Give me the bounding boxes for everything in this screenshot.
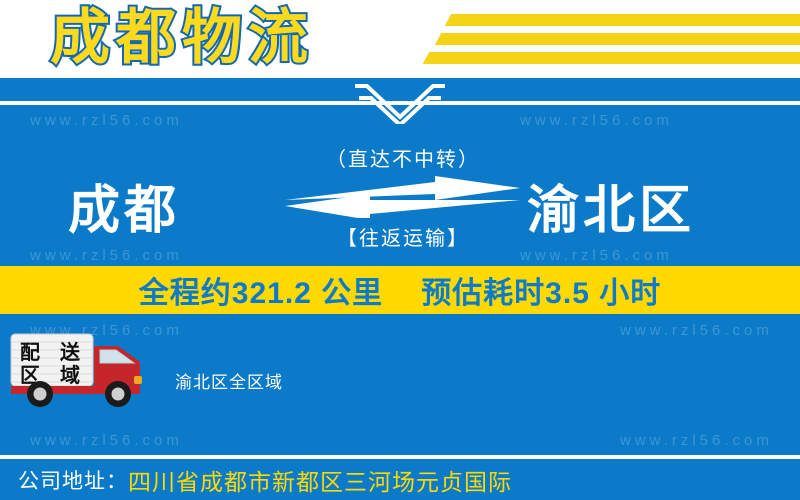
watermark: www.rzl56.com [30, 112, 183, 129]
decorative-stripes [410, 14, 800, 70]
route-note-top: （直达不中转） [293, 143, 513, 172]
route-note-bottom: 【往返运输】 [293, 222, 513, 251]
svg-text:送: 送 [60, 340, 81, 364]
delivery-truck-icon: 配 送 区 域 [8, 332, 158, 408]
chevron-down-icon [355, 84, 445, 124]
watermark: www.rzl56.com [30, 432, 183, 449]
watermark: www.rzl56.com [620, 432, 773, 449]
origin-city: 成都 [68, 168, 180, 243]
bidirectional-arrow-icon [285, 176, 520, 218]
svg-text:配: 配 [20, 341, 40, 364]
svg-text:域: 域 [60, 363, 80, 387]
distance-value: 全程约321.2 公里 [139, 268, 383, 312]
logistics-banner: www.rzl56.com www.rzl56.com www.rzl56.co… [0, 0, 800, 500]
duration-value: 预估耗时3.5 小时 [421, 268, 661, 312]
company-address: 四川省成都市新都区三河场元贞国际 [128, 463, 512, 497]
address-label: 公司地址： [18, 465, 128, 495]
info-bar: 全程约321.2 公里 预估耗时3.5 小时 [0, 266, 800, 314]
stripe-3 [423, 52, 800, 64]
footer-bar: 公司地址： 四川省成都市新都区三河场元贞国际 [0, 459, 800, 500]
destination-city: 渝北区 [527, 168, 695, 243]
watermark: www.rzl56.com [520, 112, 673, 129]
delivery-area-label: 渝北区全区域 [175, 368, 283, 393]
page-title: 成都物流 [50, 2, 314, 74]
stripe-2 [435, 33, 800, 45]
watermark: www.rzl56.com [30, 247, 183, 264]
watermark: www.rzl56.com [620, 322, 773, 339]
watermark: www.rzl56.com [520, 247, 673, 264]
stripe-1 [445, 14, 800, 26]
